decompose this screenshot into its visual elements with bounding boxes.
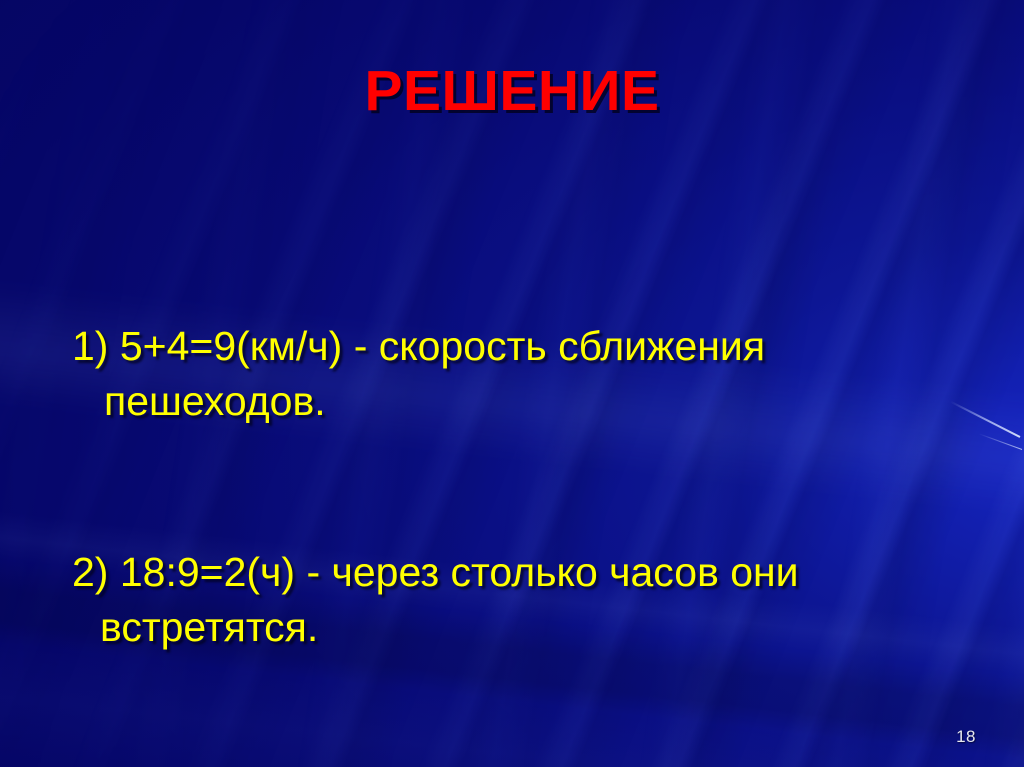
page-number: 18 [956, 728, 976, 745]
presentation-slide: РЕШЕНИЕ 1) 5+4=9(км/ч) - скорость сближе… [0, 0, 1024, 767]
solution-step-1: 1) 5+4=9(км/ч) - скорость сближения пеше… [0, 319, 1024, 428]
slide-title: РЕШЕНИЕ [0, 62, 1024, 122]
slide-body: 1) 5+4=9(км/ч) - скорость сближения пеше… [0, 210, 1024, 767]
solution-step-2: 2) 18:9=2(ч) - через столько часов они в… [0, 545, 1024, 654]
slide-content: РЕШЕНИЕ 1) 5+4=9(км/ч) - скорость сближе… [0, 0, 1024, 767]
